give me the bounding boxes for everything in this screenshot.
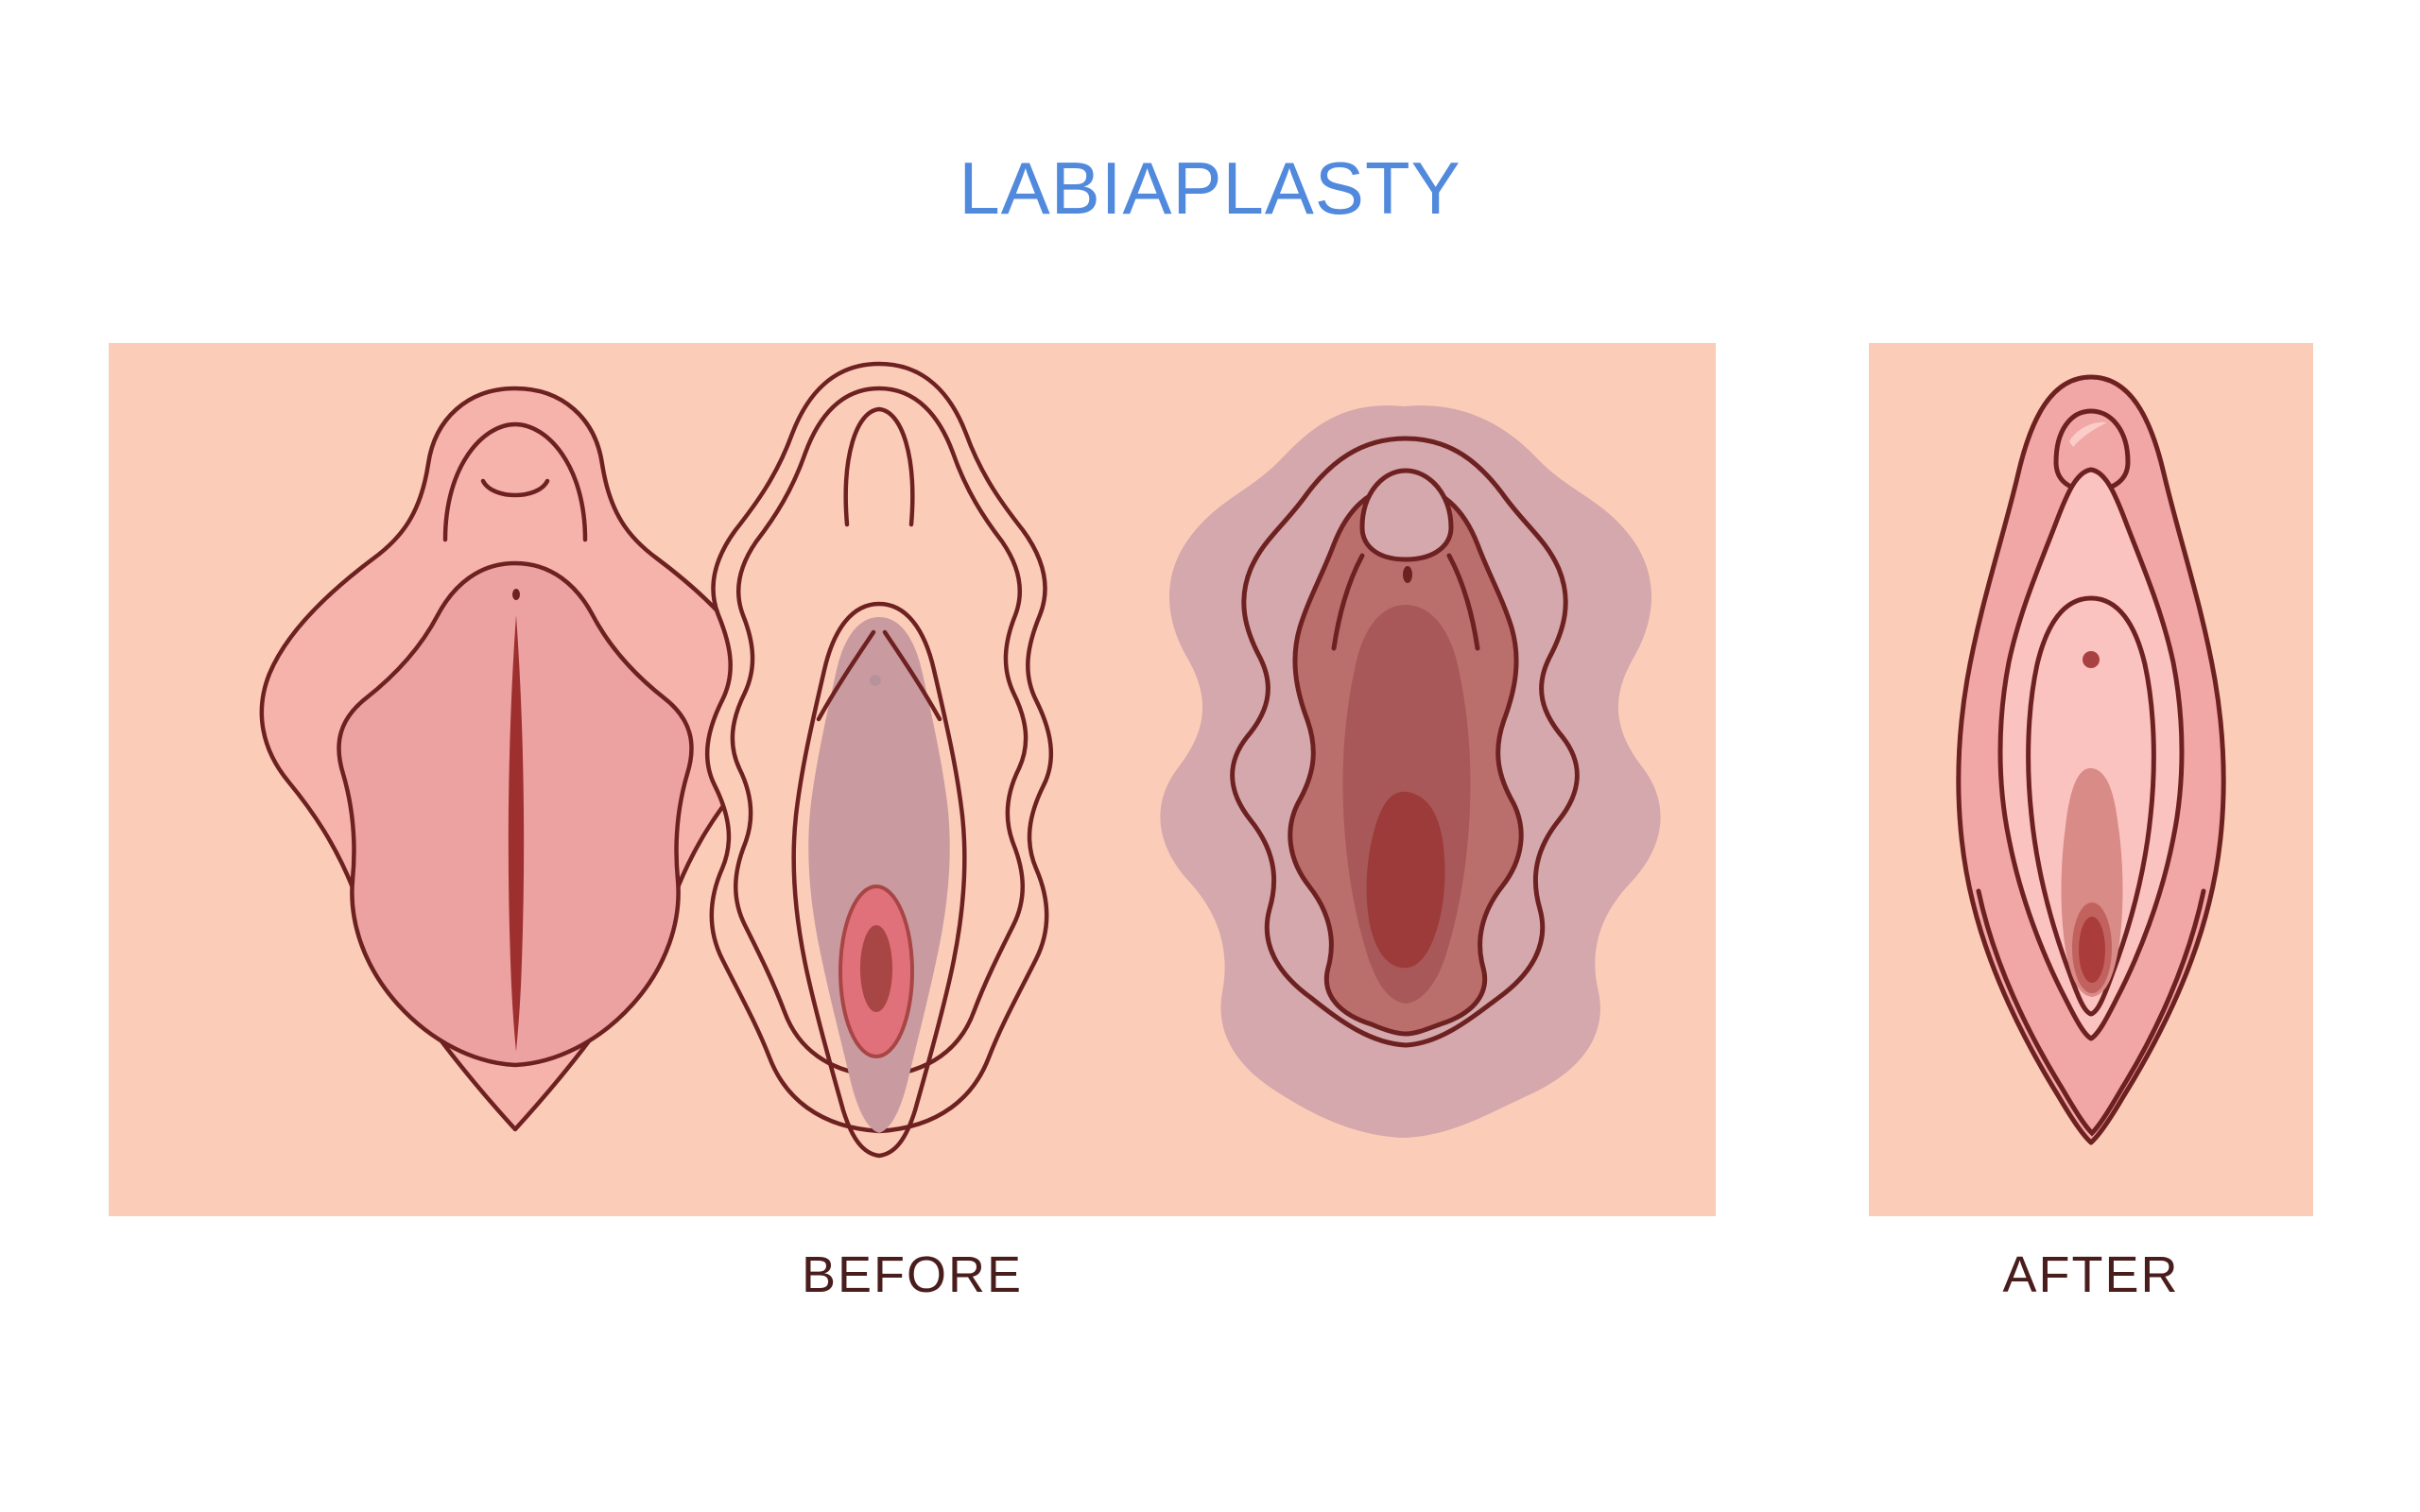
urethra-dot: [870, 675, 881, 686]
figure-2-svg: [690, 343, 1068, 1194]
figure-3-svg: [1139, 395, 1668, 1151]
urethra-dot: [2083, 651, 2100, 668]
clitoral-hood-arc: [1362, 471, 1451, 559]
urethra-dot: [1403, 566, 1412, 583]
page-title: LABIAPLASTY: [0, 151, 2420, 225]
panel-after: [1869, 343, 2313, 1216]
caption-before: BEFORE: [109, 1246, 1716, 1304]
illustration-page: LABIAPLASTY: [0, 0, 2420, 1512]
vaginal-opening: [860, 925, 892, 1012]
panel-before: [109, 343, 1716, 1216]
urethra-dot: [512, 589, 520, 600]
caption-after: AFTER: [1869, 1246, 2313, 1304]
vaginal-opening-core: [2079, 917, 2105, 983]
figure-4-svg: [1945, 362, 2238, 1194]
